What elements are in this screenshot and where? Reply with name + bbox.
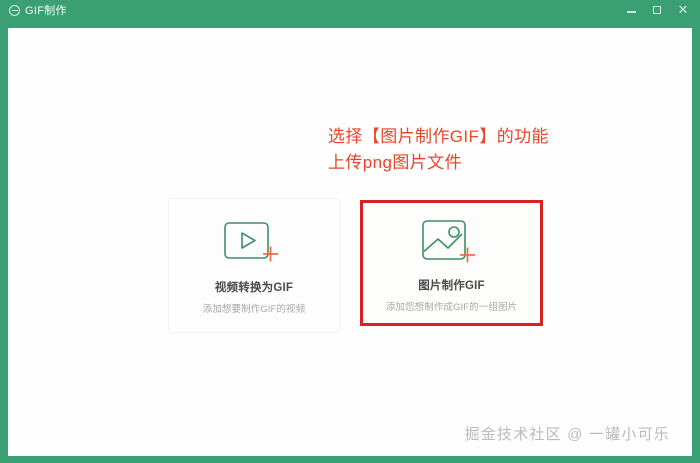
- video-play-plus-icon: [223, 221, 285, 271]
- card-image-title: 图片制作GIF: [418, 277, 485, 293]
- window-controls: ✕: [618, 0, 696, 20]
- annotation-line-2: 上传png图片文件: [328, 150, 628, 176]
- card-image-to-gif[interactable]: 图片制作GIF 添加您想制作成GIF的一组图片: [363, 203, 540, 323]
- highlight-box-image-to-gif: 图片制作GIF 添加您想制作成GIF的一组图片: [360, 200, 543, 326]
- window-frame: 选择【图片制作GIF】的功能 上传png图片文件 视频转换为GIF: [0, 20, 700, 463]
- gif-maker-window: GIF制作 ✕ 选择【图片制作GIF】的功能 上传png图片文件: [0, 0, 700, 463]
- main-canvas: 选择【图片制作GIF】的功能 上传png图片文件 视频转换为GIF: [8, 28, 692, 456]
- minimize-button[interactable]: [618, 0, 644, 20]
- mode-card-group: 视频转换为GIF 添加想要制作GIF的视频: [160, 192, 560, 337]
- maximize-icon: [653, 6, 661, 14]
- annotation-text: 选择【图片制作GIF】的功能 上传png图片文件: [328, 124, 628, 177]
- annotation-line-1: 选择【图片制作GIF】的功能: [328, 124, 628, 150]
- close-icon: ✕: [678, 4, 689, 17]
- title-bar-left: GIF制作: [0, 2, 67, 18]
- card-video-subtitle: 添加想要制作GIF的视频: [203, 301, 306, 315]
- picture-plus-icon: [421, 219, 483, 269]
- card-image-subtitle: 添加您想制作成GIF的一组图片: [386, 299, 517, 313]
- title-bar: GIF制作 ✕: [0, 0, 700, 20]
- close-button[interactable]: ✕: [670, 0, 696, 20]
- watermark: 掘金技术社区 @ 一罐小可乐: [465, 423, 670, 444]
- window-title: GIF制作: [25, 2, 67, 18]
- card-video-title: 视频转换为GIF: [215, 279, 293, 295]
- minimize-icon: [627, 11, 636, 12]
- maximize-button[interactable]: [644, 0, 670, 20]
- card-video-to-gif[interactable]: 视频转换为GIF 添加想要制作GIF的视频: [168, 198, 340, 333]
- gif-circle-icon: [9, 5, 20, 16]
